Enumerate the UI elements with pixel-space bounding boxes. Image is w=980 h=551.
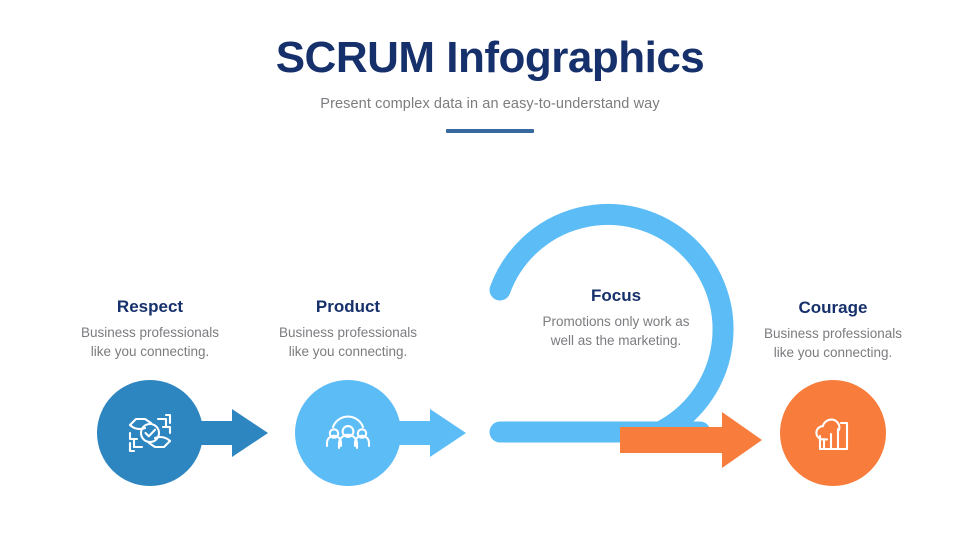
step-title-product: Product bbox=[243, 297, 453, 317]
step-desc-line1: Business professionals bbox=[279, 325, 417, 340]
step-desc-line2: like you connecting. bbox=[289, 344, 408, 359]
step-desc-line2: well as the marketing. bbox=[551, 333, 682, 348]
step-text-respect: Respect Business professionals like you … bbox=[45, 297, 255, 361]
flow-diagram bbox=[0, 0, 980, 551]
step-text-courage: Courage Business professionals like you … bbox=[728, 298, 938, 362]
step-desc-line2: like you connecting. bbox=[91, 344, 210, 359]
team-group-icon bbox=[320, 405, 376, 461]
step-desc-focus: Promotions only work as well as the mark… bbox=[511, 313, 721, 349]
step-desc-line1: Business professionals bbox=[764, 326, 902, 341]
step-text-focus: Focus Promotions only work as well as th… bbox=[511, 286, 721, 350]
step-desc-line1: Business professionals bbox=[81, 325, 219, 340]
cloud-bar-chart-icon bbox=[805, 405, 861, 461]
step-title-respect: Respect bbox=[45, 297, 255, 317]
step-title-courage: Courage bbox=[728, 298, 938, 318]
step-title-focus: Focus bbox=[511, 286, 721, 306]
step-desc-line1: Promotions only work as bbox=[542, 314, 689, 329]
step-desc-courage: Business professionals like you connecti… bbox=[728, 325, 938, 361]
step-text-product: Product Business professionals like you … bbox=[243, 297, 453, 361]
hands-check-icon bbox=[122, 405, 178, 461]
step-desc-line2: like you connecting. bbox=[774, 345, 893, 360]
infographic-slide: SCRUM Infographics Present complex data … bbox=[0, 0, 980, 551]
step-desc-product: Business professionals like you connecti… bbox=[243, 324, 453, 360]
step-desc-respect: Business professionals like you connecti… bbox=[45, 324, 255, 360]
